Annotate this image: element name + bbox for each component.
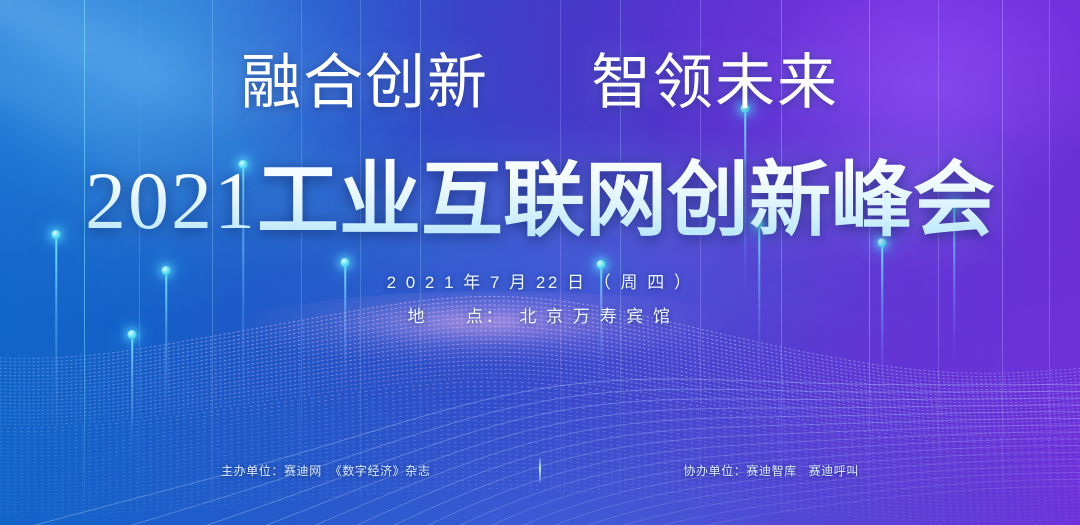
wave-line — [0, 326, 1080, 396]
wave-line — [0, 335, 1080, 403]
wave-line — [0, 382, 1080, 439]
pin-stem — [165, 272, 167, 422]
wave-line — [0, 403, 1080, 455]
wave-line — [0, 331, 1080, 400]
wave-line — [0, 386, 1080, 442]
wave-line — [0, 352, 1080, 416]
wave-line — [0, 408, 1080, 459]
wave-line — [0, 480, 1080, 515]
glow-bottom-blue — [0, 315, 1080, 525]
pin-dot-icon — [128, 330, 137, 339]
wave-line — [0, 356, 1080, 419]
wave-line — [0, 378, 1080, 436]
wave-line — [0, 322, 1080, 393]
title-year: 2021 — [85, 155, 257, 246]
pin-stem — [131, 336, 133, 456]
pin-dot-icon — [341, 258, 350, 267]
wave-line — [0, 348, 1080, 413]
wave-line — [0, 369, 1080, 429]
footer-organizer: 主办单位：赛迪网 《数字经济》杂志 — [221, 462, 521, 479]
pin-stem — [55, 236, 57, 436]
wave-contour-line — [2, 486, 1080, 525]
footer-divider — [539, 457, 541, 483]
light-pin — [51, 230, 61, 430]
wave-line — [0, 373, 1080, 432]
wave-line — [0, 339, 1080, 406]
poster-main-title: 2021工业互联网创新峰会 — [0, 133, 1080, 252]
poster-footer: 主办单位：赛迪网 《数字经济》杂志 协办单位：赛迪智库 赛迪呼叫 — [0, 457, 1080, 483]
wave-line — [0, 365, 1080, 426]
footer-coorganizer: 协办单位：赛迪智库 赛迪呼叫 — [559, 462, 859, 479]
wave-line — [0, 395, 1080, 449]
event-date: 2 0 2 1 年 7 月 22 日 （ 周 四 ） — [0, 268, 1080, 293]
light-pin — [127, 330, 137, 450]
wave-line — [0, 484, 1080, 518]
wave-line — [0, 390, 1080, 445]
wave-line — [0, 361, 1080, 423]
poster-headline: 融合创新 智领未来 — [0, 34, 1080, 121]
wave-line — [0, 412, 1080, 462]
title-main-text: 工业互联网创新峰会 — [257, 155, 995, 246]
event-poster: 融合创新 智领未来 2021工业互联网创新峰会 2 0 2 1 年 7 月 22… — [0, 0, 1080, 525]
wave-line — [0, 399, 1080, 452]
wave-contour-line — [2, 379, 1080, 525]
wave-line — [0, 318, 1080, 390]
event-location: 地 点： 北 京 万 寿 宾 馆 — [0, 302, 1080, 327]
wave-contour-line — [2, 479, 1080, 525]
wave-line — [0, 343, 1080, 409]
wave-line — [0, 489, 1080, 522]
